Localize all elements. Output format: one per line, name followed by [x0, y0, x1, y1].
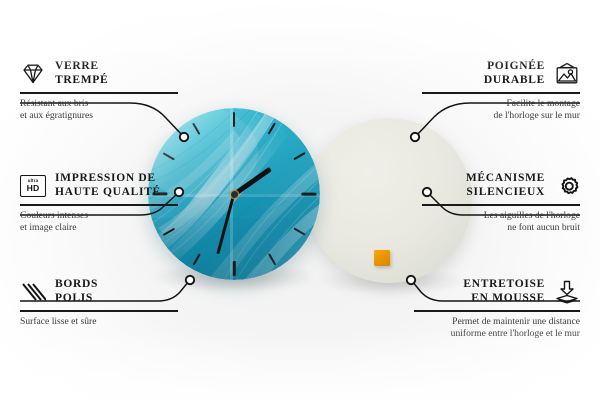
clock-center-pin — [231, 191, 238, 198]
callout-rule — [414, 310, 580, 312]
callout-rule — [20, 204, 178, 206]
callout-rule — [422, 92, 580, 94]
callout-rule — [20, 310, 178, 312]
callout-description: Surface lisse et sûre — [20, 316, 178, 328]
callout-impression-haute-qualite: ultra HD IMPRESSION DEHAUTE QUALITÉ Coul… — [20, 172, 178, 234]
callout-title: BORDSPOLIS — [55, 278, 98, 305]
callout-rule — [20, 92, 178, 94]
callout-entretoise-mousse: ENTRETOISEEN MOUSSE Permet de maintenir … — [414, 278, 580, 340]
callout-description: Facilite le montage de l'horloge sur le … — [422, 98, 580, 122]
callout-bords-polis: BORDSPOLIS Surface lisse et sûre — [20, 278, 178, 328]
callout-title: IMPRESSION DEHAUTE QUALITÉ — [55, 172, 161, 199]
gear-icon — [554, 174, 580, 198]
callout-description: Les aiguilles de l'horloge ne font aucun… — [422, 210, 580, 234]
callout-mecanisme-silencieux: MÉCANISMESILENCIEUX Les aiguilles de l'h… — [422, 172, 580, 234]
callout-verre-trempe: VERRETREMPÉ Résistant aux bris et aux ég… — [20, 60, 178, 122]
callout-title: VERRETREMPÉ — [55, 60, 108, 87]
callout-title: POIGNÉEDURABLE — [484, 60, 545, 87]
foam-spacer-pad — [374, 250, 390, 266]
picture-hanger-icon — [554, 62, 580, 86]
polished-edges-icon — [20, 280, 46, 304]
callout-rule — [422, 204, 580, 206]
foam-spacer-icon — [554, 280, 580, 304]
callout-title: MÉCANISMESILENCIEUX — [466, 172, 545, 199]
product-feature-infographic: VERRETREMPÉ Résistant aux bris et aux ég… — [0, 0, 600, 400]
callout-description: Permet de maintenir une distance uniform… — [414, 316, 580, 340]
diamond-icon — [20, 62, 46, 86]
callout-description: Résistant aux bris et aux égratignures — [20, 98, 178, 122]
ultra-hd-icon: ultra HD — [20, 174, 46, 198]
callout-title: ENTRETOISEEN MOUSSE — [463, 278, 545, 305]
callout-poignee-durable: POIGNÉEDURABLE Facilite le montage de l'… — [422, 60, 580, 122]
callout-description: Couleurs intenses et image claire — [20, 210, 178, 234]
